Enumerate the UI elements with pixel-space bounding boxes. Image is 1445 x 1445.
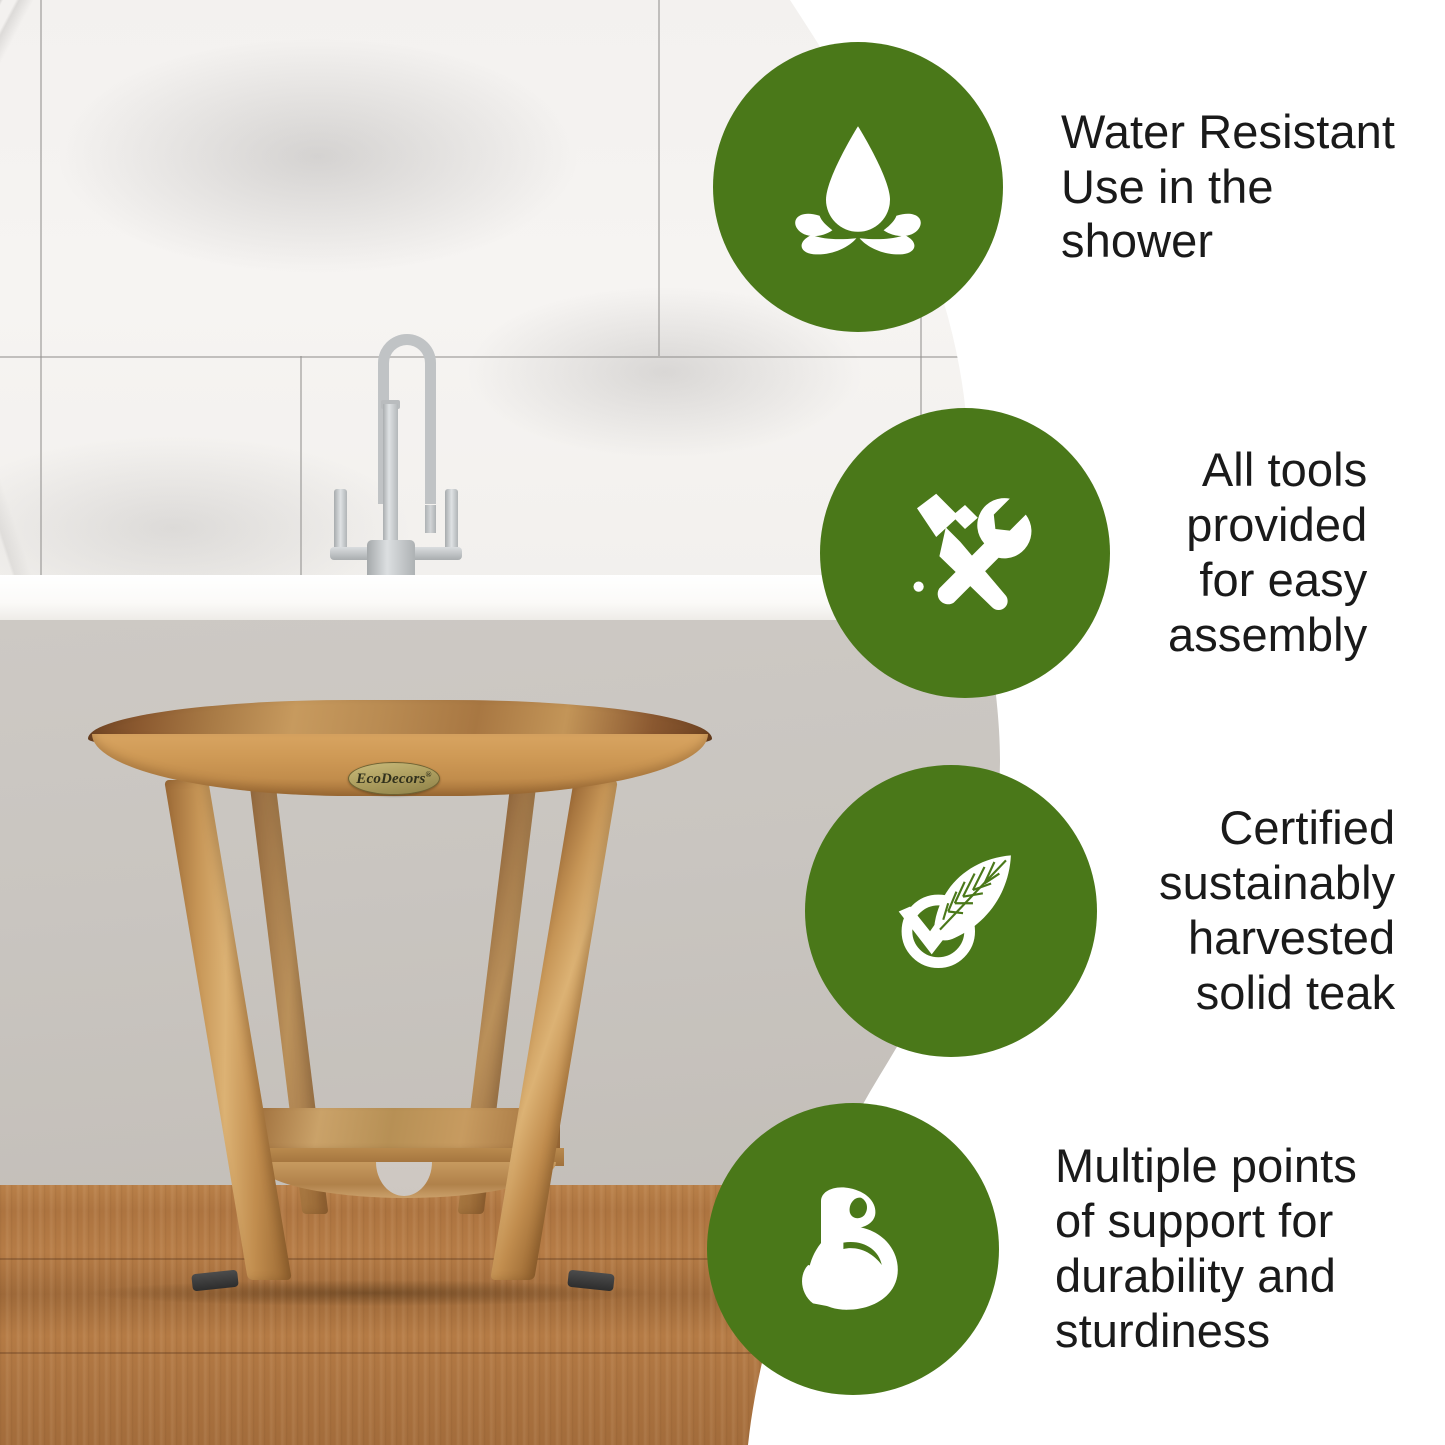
flexed-bicep-icon [707,1103,999,1395]
tile-grout-line [658,0,660,356]
feature-label: All tools provided for easy assembly [1168,443,1367,663]
tile-grout-line [0,356,1445,358]
tile-grout-line [300,356,302,600]
stool-foot-cap-left [191,1270,239,1292]
faucet-handle-left [334,489,347,551]
hammer-wrench-icon [820,408,1110,698]
stool-foot-cap-right [567,1270,615,1292]
feature-tools-included: All tools provided for easy assembly [820,408,1367,698]
tile-grout-line [40,0,42,600]
feature-water-resistant: Water Resistant Use in the shower [713,42,1395,332]
water-drop-splash-icon [713,42,1003,332]
infographic-canvas: EcoDecors® Water Resistant Use in the sh… [0,0,1445,1445]
brand-badge-label: EcoDecors® [356,770,431,788]
faucet-base [367,540,415,580]
feature-durable-support: Multiple points of support for durabilit… [707,1103,1357,1395]
feature-label: Certified sustainably harvested solid te… [1159,801,1395,1021]
feature-label: Multiple points of support for durabilit… [1055,1139,1357,1359]
brand-badge: EcoDecors® [348,762,440,795]
leaf-check-icon [805,765,1097,1057]
feature-sustainable-teak: Certified sustainably harvested solid te… [805,765,1395,1057]
teak-stool: EcoDecors® [80,700,720,1312]
faucet-handle-right [445,489,458,551]
feature-label: Water Resistant Use in the shower [1061,105,1395,270]
